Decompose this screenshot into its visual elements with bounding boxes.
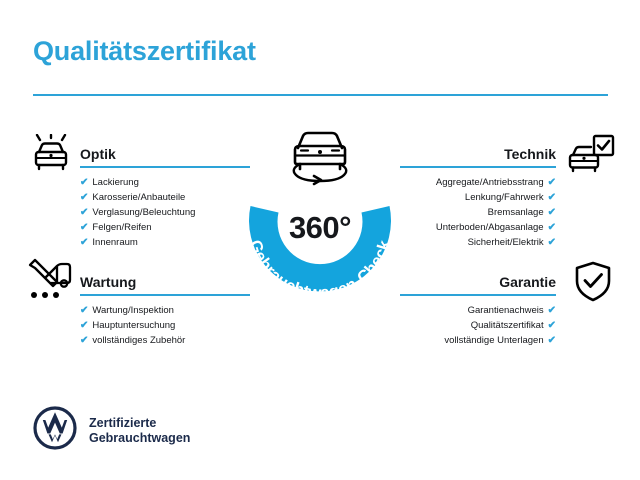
list-item-label: Aggregate/Antriebsstrang — [436, 175, 544, 190]
title-divider — [33, 94, 608, 96]
section-divider-garantie — [400, 294, 556, 296]
section-header-technik: Technik — [400, 140, 556, 170]
car-front-checkbox-icon — [568, 134, 616, 179]
section-title-wartung: Wartung — [80, 274, 136, 290]
list-item: Unterboden/Abgasanlage✔ — [400, 220, 556, 235]
list-item: Lenkung/Fahrwerk✔ — [400, 190, 556, 205]
list-item-label: Lenkung/Fahrwerk — [465, 190, 544, 205]
check-icon: ✔ — [80, 223, 88, 233]
check-icon: ✔ — [80, 208, 88, 218]
list-item-label: Felgen/Reifen — [92, 220, 151, 235]
section-technik: Technik Aggregate/Antriebsstrang✔ Lenkun… — [400, 140, 556, 250]
check-icon: ✔ — [80, 238, 88, 248]
check-icon: ✔ — [548, 336, 556, 346]
list-item: Garantienachweis✔ — [400, 303, 556, 318]
list-item-label: Karosserie/Anbauteile — [92, 190, 185, 205]
brand-line-1: Zertifizierte — [89, 416, 190, 431]
check-icon: ✔ — [80, 306, 88, 316]
list-item: Sicherheit/Elektrik✔ — [400, 235, 556, 250]
car-service-wrench-icon — [26, 258, 76, 307]
volkswagen-logo — [33, 406, 77, 455]
list-item-label: Unterboden/Abgasanlage — [436, 220, 544, 235]
check-icon: ✔ — [548, 193, 556, 203]
brand-text: Zertifizierte Gebrauchtwagen — [89, 416, 190, 446]
section-title-garantie: Garantie — [499, 274, 556, 290]
list-item-label: Garantienachweis — [468, 303, 544, 318]
certificate-page: Qualitätszertifikat Optik ✔Lackierung ✔K… — [0, 0, 640, 480]
footer-brand: Zertifizierte Gebrauchtwagen — [33, 406, 190, 455]
section-header-garantie: Garantie — [400, 268, 556, 298]
check-icon: ✔ — [548, 223, 556, 233]
list-item: vollständige Unterlagen✔ — [400, 333, 556, 348]
check-icon: ✔ — [80, 178, 88, 188]
check-icon: ✔ — [548, 238, 556, 248]
section-items-garantie: Garantienachweis✔ Qualitätszertifikat✔ v… — [400, 303, 556, 348]
check-icon: ✔ — [548, 321, 556, 331]
section-title-optik: Optik — [80, 146, 116, 162]
check-icon: ✔ — [80, 321, 88, 331]
list-item: Bremsanlage✔ — [400, 205, 556, 220]
section-title-technik: Technik — [504, 146, 556, 162]
list-item: ✔vollständiges Zubehör — [80, 333, 250, 348]
list-item-label: Hauptuntersuchung — [92, 318, 175, 333]
list-item: Qualitätszertifikat✔ — [400, 318, 556, 333]
badge-center-text: 360° — [222, 210, 418, 246]
list-item-label: Qualitätszertifikat — [471, 318, 544, 333]
list-item-label: Bremsanlage — [488, 205, 544, 220]
list-item-label: Verglasung/Beleuchtung — [92, 205, 195, 220]
check-icon: ✔ — [548, 306, 556, 316]
section-items-technik: Aggregate/Antriebsstrang✔ Lenkung/Fahrwe… — [400, 175, 556, 250]
check-icon: ✔ — [548, 178, 556, 188]
list-item-label: Lackierung — [92, 175, 138, 190]
check-icon: ✔ — [80, 336, 88, 346]
list-item-label: vollständige Unterlagen — [444, 333, 543, 348]
shield-check-icon — [574, 261, 612, 308]
page-title: Qualitätszertifikat — [33, 36, 256, 67]
section-garantie: Garantie Garantienachweis✔ Qualitätszert… — [400, 268, 556, 348]
section-divider-technik — [400, 166, 556, 168]
check-icon: ✔ — [548, 208, 556, 218]
list-item-label: vollständiges Zubehör — [92, 333, 185, 348]
list-item-label: Wartung/Inspektion — [92, 303, 174, 318]
list-item: Aggregate/Antriebsstrang✔ — [400, 175, 556, 190]
list-item-label: Sicherheit/Elektrik — [468, 235, 544, 250]
check-icon: ✔ — [80, 193, 88, 203]
brand-line-2: Gebrauchtwagen — [89, 431, 190, 446]
badge-360-check: Gebrauchtwagen-Check 360° — [222, 128, 418, 324]
car-front-shine-icon — [28, 134, 74, 179]
car-rotate-icon — [278, 126, 362, 186]
list-item-label: Innenraum — [92, 235, 137, 250]
